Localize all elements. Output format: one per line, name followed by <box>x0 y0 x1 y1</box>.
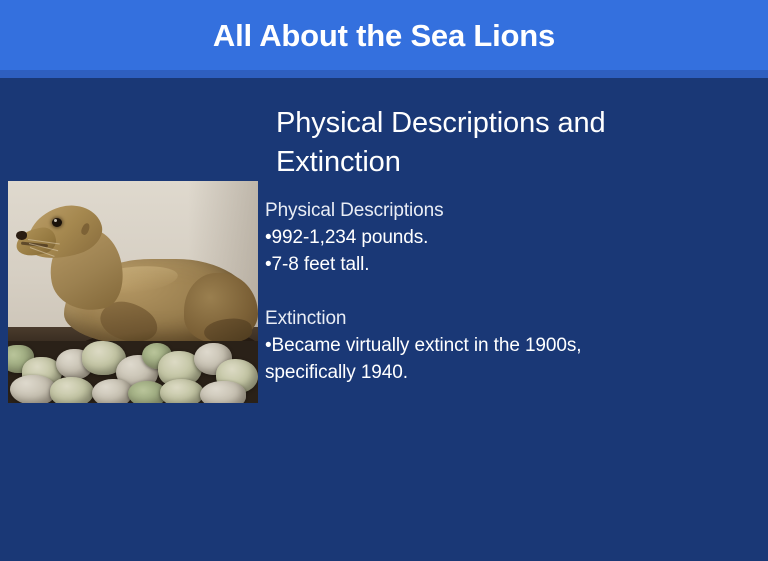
bullet-weight: •992-1,234 pounds. <box>265 225 685 252</box>
presentation-title: All About the Sea Lions <box>213 20 555 51</box>
slide-header-band: All About the Sea Lions <box>0 0 768 70</box>
rock <box>200 381 246 403</box>
slide-title-line-2: Extinction <box>276 143 716 182</box>
section-heading-extinction: Extinction <box>265 306 685 333</box>
section-spacer <box>265 279 685 306</box>
rock <box>50 377 94 403</box>
sea-lion-eye-glint <box>54 219 57 222</box>
rock <box>160 379 204 403</box>
slide-title-line-1: Physical Descriptions and <box>276 104 716 143</box>
slide-body: Physical Descriptions and Extinction Phy… <box>0 78 768 561</box>
header-underline-strip <box>0 70 768 78</box>
slide-content: Physical Descriptions •992-1,234 pounds.… <box>265 198 685 387</box>
bullet-extinction-line-2: specifically 1940. <box>265 360 685 387</box>
rock <box>92 379 132 403</box>
sea-lion-photo <box>8 181 258 403</box>
bullet-extinction-line-1: •Became virtually extinct in the 1900s, <box>265 333 685 360</box>
bullet-height: •7-8 feet tall. <box>265 252 685 279</box>
sea-lion-nose <box>16 231 27 240</box>
sea-lion-photo-inner <box>8 181 258 403</box>
slide: All About the Sea Lions Physical Descrip… <box>0 0 768 561</box>
photo-rock-bed <box>8 341 258 403</box>
section-heading-physical-descriptions: Physical Descriptions <box>265 198 685 225</box>
slide-title: Physical Descriptions and Extinction <box>276 104 716 182</box>
